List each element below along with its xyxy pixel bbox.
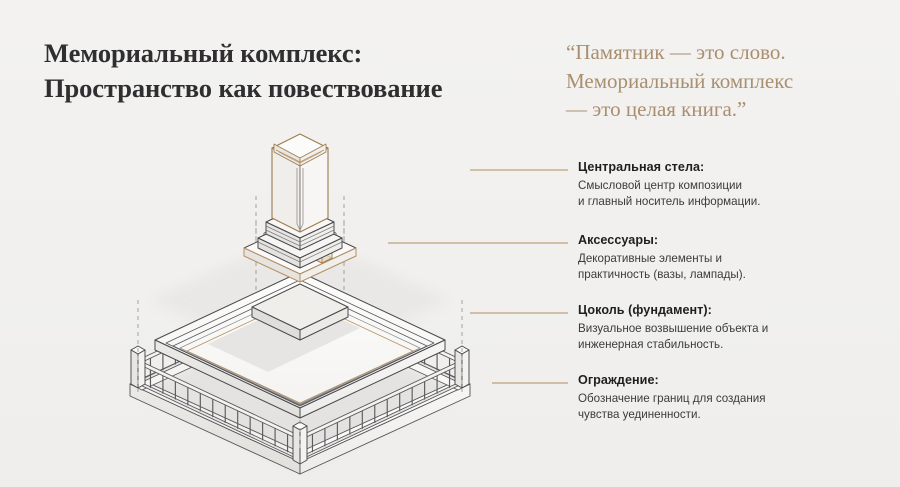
annotation-title: Ограждение: bbox=[578, 373, 878, 389]
accessory-lantern bbox=[312, 232, 332, 263]
fence-post-cap bbox=[455, 346, 469, 354]
fence-top-rail bbox=[300, 360, 462, 440]
pedestal-left bbox=[252, 307, 300, 340]
vase-rim bbox=[296, 222, 304, 226]
accessory-plate-top bbox=[244, 222, 356, 274]
fence-run-front-right bbox=[300, 360, 462, 460]
alignment-guides bbox=[138, 196, 462, 452]
stela-base-mouldings bbox=[258, 226, 342, 262]
fence-top-rail bbox=[300, 284, 462, 364]
stela-base2-right bbox=[300, 238, 342, 268]
fence-bottom-rail bbox=[138, 305, 300, 384]
fence-run-front-left bbox=[138, 360, 300, 460]
plinth-front-left bbox=[155, 340, 300, 418]
annotation-body: Обозначение границ для создания чувства … bbox=[578, 391, 878, 424]
annotation-title: Цоколь (фундамент): bbox=[578, 303, 878, 319]
vase-foot bbox=[297, 263, 303, 266]
stela-layer bbox=[258, 134, 342, 268]
stela-edge-lines bbox=[276, 150, 324, 163]
plinth-steps bbox=[166, 280, 434, 406]
vase-foot bbox=[265, 243, 271, 246]
fence-post-right bbox=[300, 274, 307, 312]
annotation-title: Аксессуары: bbox=[578, 233, 878, 249]
fence-kerb-back-left bbox=[130, 306, 312, 390]
fence-post-right bbox=[138, 350, 145, 388]
stela-cap-right bbox=[300, 144, 326, 166]
fence-bottom-rail bbox=[300, 305, 462, 384]
fence-corner-posts bbox=[131, 270, 469, 464]
plinth-top bbox=[155, 272, 445, 408]
fence-railings bbox=[138, 284, 462, 460]
vase-rim bbox=[296, 252, 304, 256]
stela-shaft-top bbox=[272, 134, 328, 162]
fence-run-back-right bbox=[300, 284, 462, 384]
accessory-vases bbox=[264, 222, 336, 267]
stela-base1-top bbox=[266, 206, 334, 238]
fence-base-left bbox=[130, 384, 300, 474]
vase-body bbox=[296, 254, 304, 265]
accessory-plate-left bbox=[244, 248, 300, 282]
vase-rim bbox=[264, 232, 272, 236]
accessory-slab bbox=[266, 236, 306, 260]
leader-lines bbox=[388, 170, 568, 383]
vase-foot bbox=[297, 233, 303, 236]
fence-post-left bbox=[293, 426, 300, 464]
page-title: Мемориальный комплекс: Пространство как … bbox=[44, 36, 544, 106]
fence-kerb-top-right bbox=[300, 380, 470, 462]
pedestal-top bbox=[252, 284, 348, 330]
vase-body bbox=[296, 224, 304, 235]
accessory-vase-0 bbox=[264, 232, 272, 247]
fence-post-cap bbox=[293, 270, 307, 278]
vase-rim bbox=[328, 232, 336, 236]
annotation-plinth: Цоколь (фундамент): Визуальное возвышени… bbox=[578, 303, 878, 354]
fence-post-left bbox=[131, 350, 138, 388]
annotation-central-stela: Центральная стела: Смысловой центр компо… bbox=[578, 160, 878, 211]
fence-post-cap bbox=[131, 346, 145, 354]
vase-foot bbox=[329, 243, 335, 246]
stela-shaft-left bbox=[272, 148, 300, 232]
fence-kerb-back-right bbox=[288, 306, 470, 390]
fence-bottom-rail bbox=[138, 381, 300, 460]
stela-base2-left bbox=[258, 238, 300, 268]
fence-base-top bbox=[135, 350, 465, 462]
plinth-inner-shade bbox=[208, 300, 360, 372]
pedestal-right bbox=[300, 307, 348, 340]
plinth-front-right bbox=[300, 340, 445, 418]
fence-post-left bbox=[455, 350, 462, 388]
fence-post-1 bbox=[293, 422, 307, 464]
ground-shadow bbox=[135, 318, 465, 470]
annotation-body: Смысловой центр композиции и главный нос… bbox=[578, 178, 878, 211]
accessories-layer bbox=[244, 222, 356, 282]
stela-cap-left bbox=[274, 144, 300, 166]
fence-post-cap bbox=[293, 422, 307, 430]
fence-post-2 bbox=[455, 346, 469, 388]
fence-kerb-top-left bbox=[130, 380, 300, 462]
fence-post-0 bbox=[131, 346, 145, 388]
vase-body bbox=[328, 234, 336, 245]
vase-body bbox=[264, 234, 272, 245]
fence-post-right bbox=[462, 350, 469, 388]
annotation-body: Визуальное возвышение объекта и инженерн… bbox=[578, 321, 878, 354]
fence-base-right bbox=[300, 384, 470, 474]
fence-top-rail bbox=[138, 360, 300, 440]
plinth-shadow bbox=[150, 232, 450, 370]
pull-quote: “Памятник — это слово. Мемориальный комп… bbox=[566, 38, 876, 124]
annotation-fence: Ограждение: Обозначение границ для созда… bbox=[578, 373, 878, 424]
infographic-page: Мемориальный комплекс: Пространство как … bbox=[0, 0, 900, 487]
stela-shaft-right bbox=[300, 148, 328, 232]
fence-top-rail bbox=[138, 284, 300, 364]
stela-base1-left bbox=[266, 222, 300, 250]
plinth-layer bbox=[155, 272, 445, 418]
fence-post-3 bbox=[293, 270, 307, 312]
fence-run-back-left bbox=[138, 284, 300, 384]
accessory-plate-right bbox=[300, 248, 356, 282]
stela-base1-right bbox=[300, 222, 334, 250]
accessory-vase-1 bbox=[328, 232, 336, 247]
stela-base2-top bbox=[258, 218, 342, 258]
annotation-accessories: Аксессуары: Декоративные элементы и прак… bbox=[578, 233, 878, 284]
fence-post-right bbox=[300, 426, 307, 464]
stela-engraving bbox=[297, 166, 303, 230]
accessory-vase-3 bbox=[296, 222, 304, 237]
accessory-vase-2 bbox=[296, 252, 304, 267]
annotation-title: Центральная стела: bbox=[578, 160, 878, 176]
annotation-body: Декоративные элементы и практичность (ва… bbox=[578, 251, 878, 284]
fence-post-left bbox=[293, 274, 300, 312]
fence-layer bbox=[130, 270, 470, 474]
fence-bottom-rail bbox=[300, 381, 462, 460]
